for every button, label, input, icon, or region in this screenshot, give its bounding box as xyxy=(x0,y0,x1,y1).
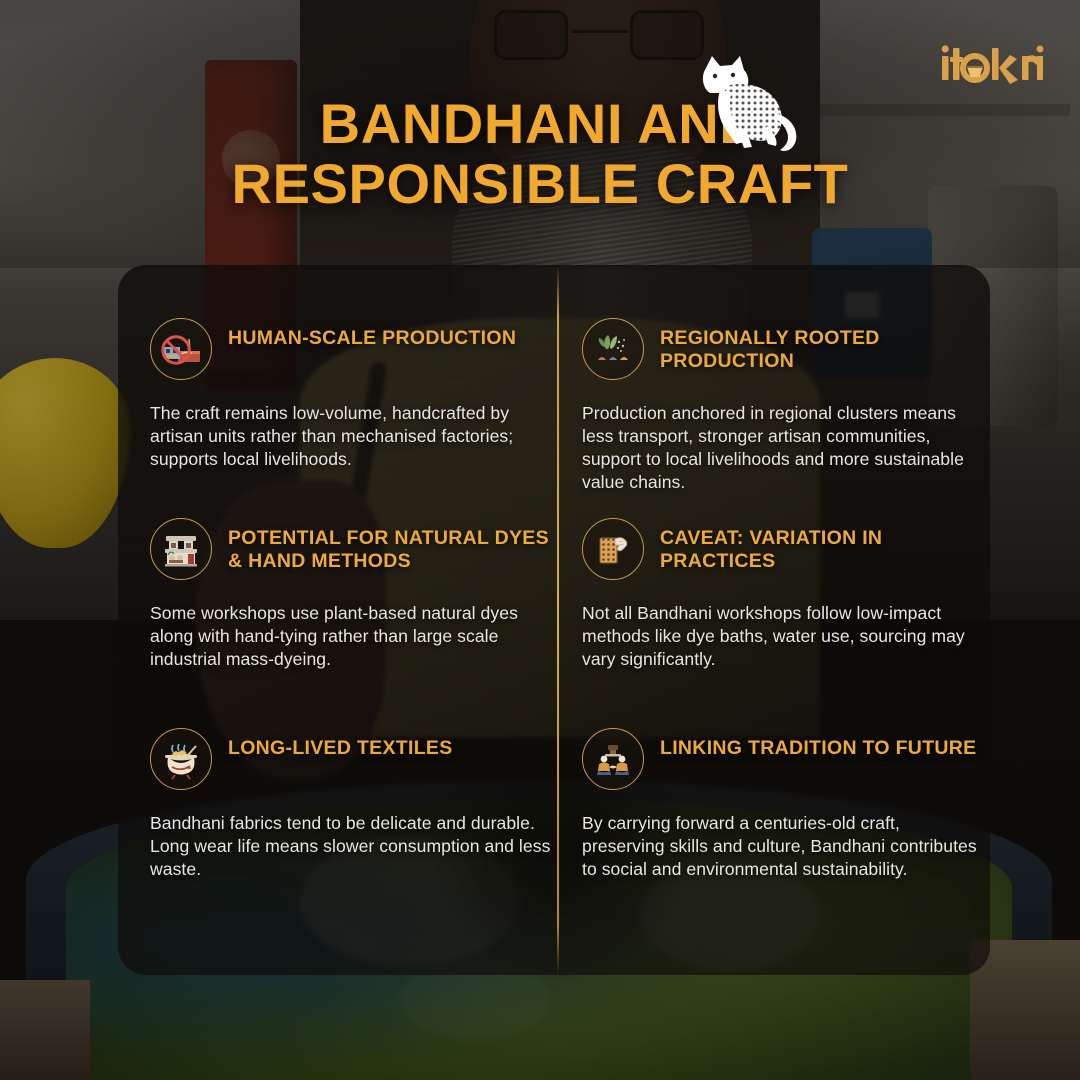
seedling-soil-icon xyxy=(582,318,644,380)
no-factory-icon xyxy=(150,318,212,380)
steaming-dye-pot-icon xyxy=(150,728,212,790)
card-title: LINKING TRADITION TO FUTURE xyxy=(660,728,976,760)
card-title: LONG-LIVED TEXTILES xyxy=(228,728,453,760)
card-title: CAVEAT: VARIATION IN PRACTICES xyxy=(660,518,986,573)
title-line-2: RESPONSIBLE CRAFT xyxy=(0,154,1080,214)
card-long-lived-textiles: LONG-LIVED TEXTILES Bandhani fabrics ten… xyxy=(150,728,554,881)
card-body: Some workshops use plant-based natural d… xyxy=(150,602,554,671)
workshop-building-icon xyxy=(150,518,212,580)
card-title: HUMAN-SCALE PRODUCTION xyxy=(228,318,516,350)
card-body: By carrying forward a centuries-old craf… xyxy=(582,812,986,881)
card-human-scale-production: HUMAN-SCALE PRODUCTION The craft remains… xyxy=(150,318,554,471)
card-title: REGIONALLY ROOTED PRODUCTION xyxy=(660,318,986,373)
hand-holding-fabric-icon xyxy=(582,518,644,580)
card-caveat-variation-in-practices: CAVEAT: VARIATION IN PRACTICES Not all B… xyxy=(582,518,986,671)
card-natural-dyes-hand-methods: POTENTIAL FOR NATURAL DYES & HAND METHOD… xyxy=(150,518,554,671)
card-title: POTENTIAL FOR NATURAL DYES & HAND METHOD… xyxy=(228,518,554,573)
card-linking-tradition-to-future: LINKING TRADITION TO FUTURE By carrying … xyxy=(582,728,986,881)
column-divider xyxy=(557,266,559,974)
itokri-logo[interactable] xyxy=(940,40,1044,88)
cat-mark-icon xyxy=(686,52,804,160)
infographic-poster: BANDHANI AND RESPONSIBLE CRAFT xyxy=(0,0,1080,1080)
card-regionally-rooted-production: REGIONALLY ROOTED PRODUCTION Production … xyxy=(582,318,986,493)
card-body: The craft remains low-volume, handcrafte… xyxy=(150,402,554,471)
two-artisans-icon xyxy=(582,728,644,790)
card-body: Production anchored in regional clusters… xyxy=(582,402,986,493)
card-body: Bandhani fabrics tend to be delicate and… xyxy=(150,812,554,881)
page-title: BANDHANI AND RESPONSIBLE CRAFT xyxy=(0,94,1080,215)
card-body: Not all Bandhani workshops follow low-im… xyxy=(582,602,986,671)
